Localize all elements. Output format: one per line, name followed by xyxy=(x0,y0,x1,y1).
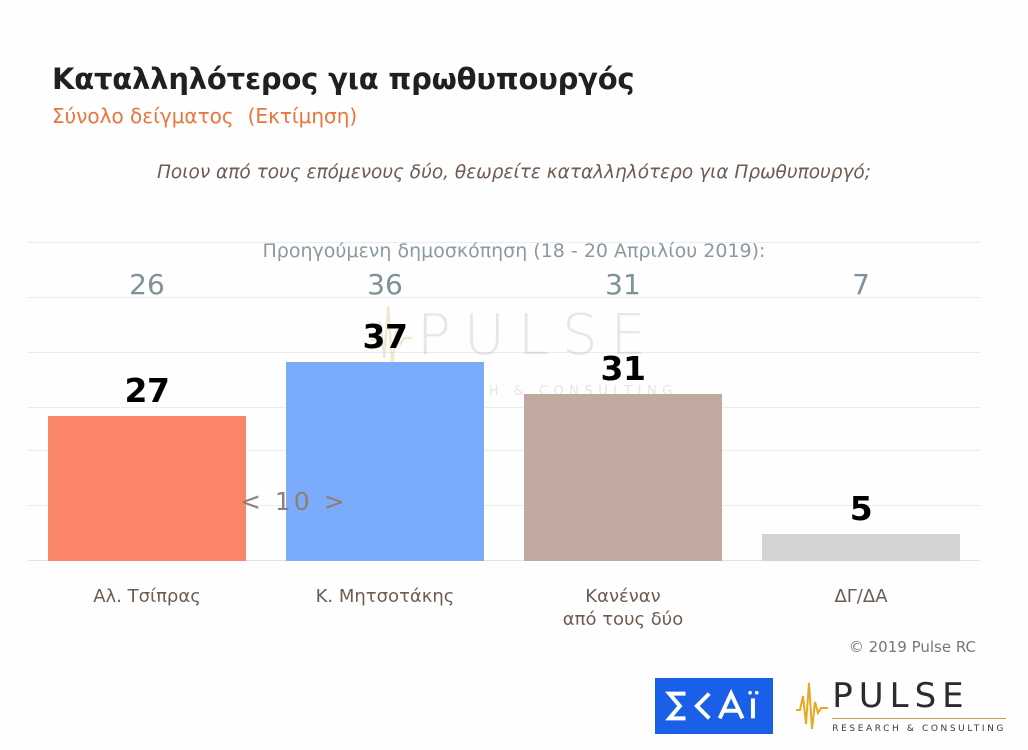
category-label: ΔΓ/ΔΑ xyxy=(742,586,980,631)
subtitle-paren: (Εκτίμηση) xyxy=(248,104,358,128)
pulse-logo-main: PULSE xyxy=(832,679,1006,713)
subtitle-main: Σύνολο δείγματος xyxy=(52,104,234,128)
category-line: ΔΓ/ΔΑ xyxy=(742,586,980,609)
category-line: Αλ. Τσίπρας xyxy=(28,586,266,609)
pulse-logo-rule xyxy=(832,718,1006,719)
pulse-wordmark: PULSE RESEARCH & CONSULTING xyxy=(832,679,1006,734)
survey-question: Ποιον από τους επόμενους δύο, θεωρείτε κ… xyxy=(0,162,1028,183)
bar-column: 27 xyxy=(28,238,266,561)
gap-annotation: < 10 > xyxy=(240,487,348,516)
skai-logo xyxy=(655,678,773,734)
waveform-icon xyxy=(795,679,829,733)
bar-rect[interactable] xyxy=(286,362,484,561)
category-label: Κ. Μητσοτάκης xyxy=(266,586,504,631)
bar-value-label: 27 xyxy=(28,371,266,410)
poll-chart-slide: Καταλληλότερος για πρωθυπουργός Σύνολο δ… xyxy=(0,0,1028,750)
category-labels: Αλ. Τσίπρας Κ. Μητσοτάκης Κανέναν από το… xyxy=(28,586,980,631)
category-line: Κανέναν xyxy=(504,586,742,609)
footer-logos: PULSE RESEARCH & CONSULTING xyxy=(655,678,1006,734)
bar-rect[interactable] xyxy=(524,394,722,561)
page-subtitle: Σύνολο δείγματος(Εκτίμηση) xyxy=(52,104,357,128)
bar-value-label: 31 xyxy=(504,349,742,388)
category-label: Αλ. Τσίπρας xyxy=(28,586,266,631)
category-label: Κανέναν από τους δύο xyxy=(504,586,742,631)
skai-wordmark-icon xyxy=(664,687,764,725)
bar-rect[interactable] xyxy=(48,416,246,561)
pulse-logo-sub: RESEARCH & CONSULTING xyxy=(832,724,1006,734)
bar-value-label: 37 xyxy=(266,317,504,356)
bar-column: 31 xyxy=(504,238,742,561)
copyright-text: © 2019 Pulse RC xyxy=(849,638,976,656)
bar-value-label: 5 xyxy=(742,489,980,528)
bar-column: 5 xyxy=(742,238,980,561)
pulse-logo: PULSE RESEARCH & CONSULTING xyxy=(795,679,1006,734)
bar-rect[interactable] xyxy=(762,534,960,561)
bar-group: 27 37 31 5 xyxy=(28,238,980,561)
category-line: Κ. Μητσοτάκης xyxy=(266,586,504,609)
page-title: Καταλληλότερος για πρωθυπουργός xyxy=(52,62,634,96)
category-line: από τους δύο xyxy=(504,609,742,632)
